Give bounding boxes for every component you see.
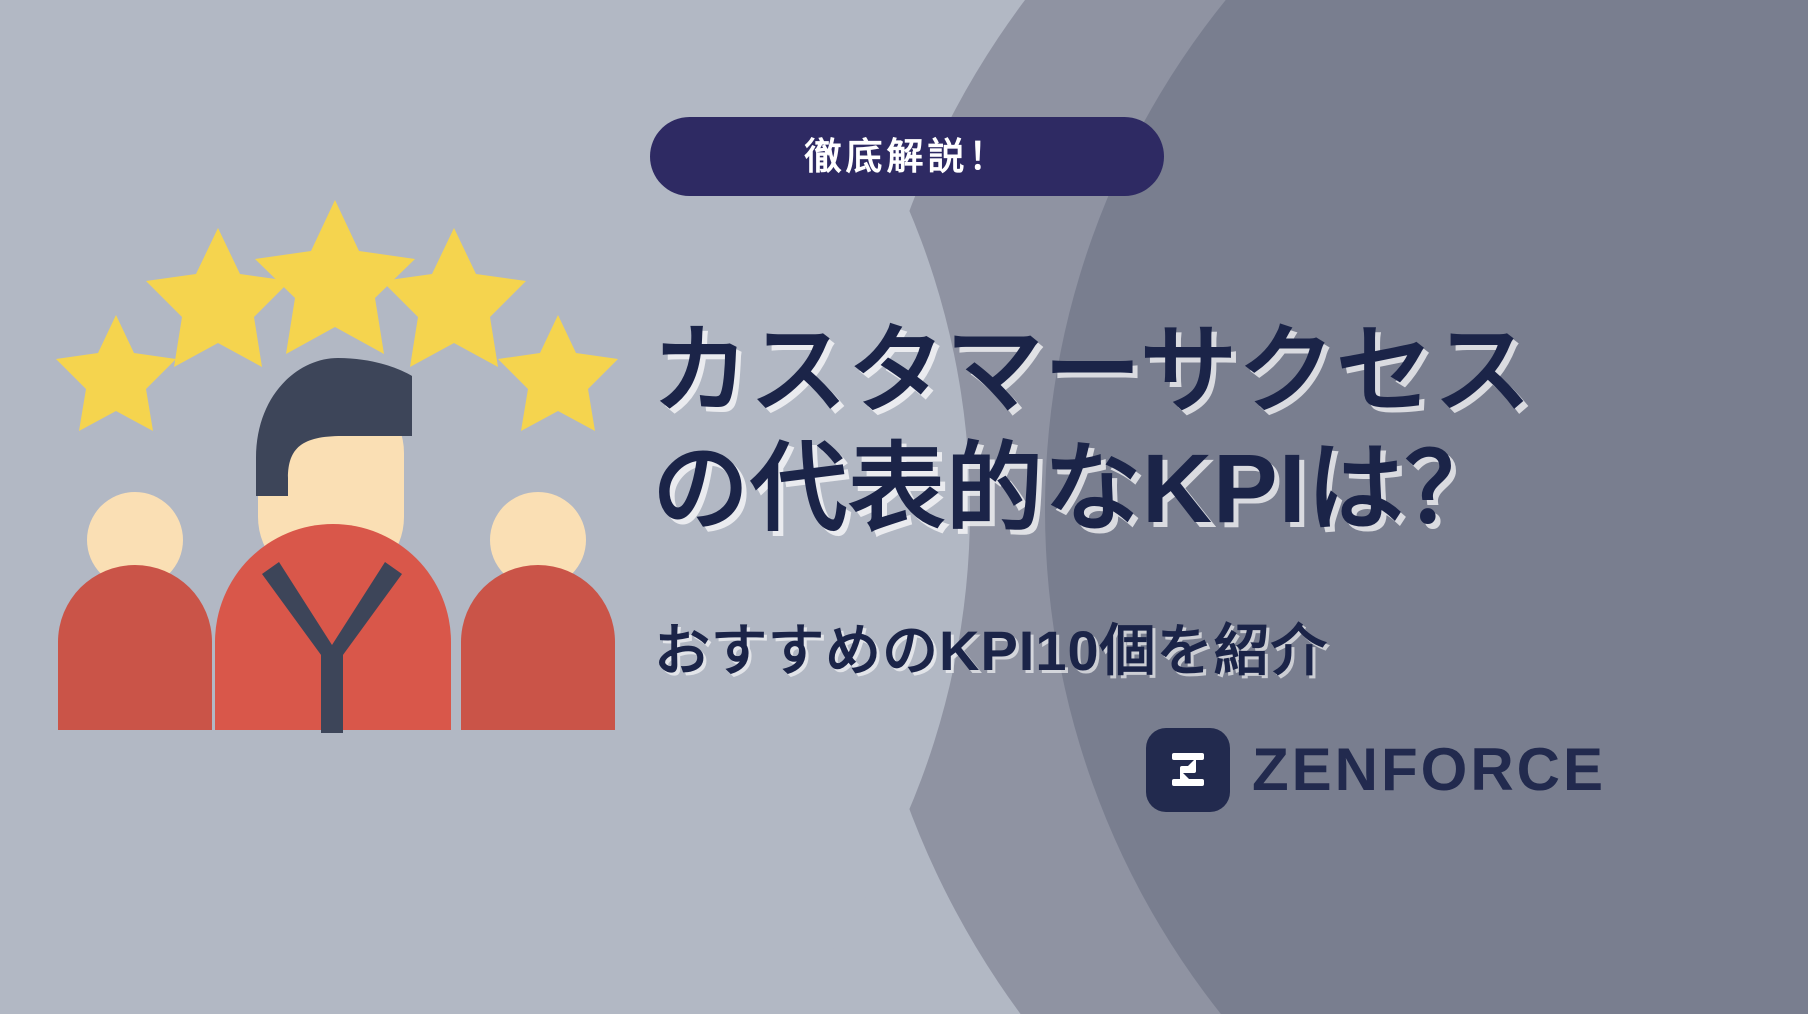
banner-canvas: 徹底解説！ カスタマーサクセス の代表的なKPIは？ おすすめのKPI10個を紹…	[0, 0, 1808, 1014]
person-left-body	[58, 565, 212, 730]
brand-logo: ZENFORCE	[1146, 728, 1606, 812]
brand-wordmark: ZENFORCE	[1252, 740, 1606, 800]
person-center	[215, 358, 451, 733]
star-icon-4	[382, 228, 526, 367]
star-icon-3	[255, 200, 415, 354]
page-title: カスタマーサクセス の代表的なKPIは？	[652, 312, 1772, 548]
zenforce-z-mark-icon	[1146, 728, 1230, 812]
star-icon-5	[498, 315, 618, 431]
headline-line-1: カスタマーサクセス	[652, 312, 1772, 430]
person-center-placket	[321, 655, 343, 733]
star-icon-2	[146, 228, 290, 367]
star-icon-1	[56, 315, 176, 431]
person-right	[461, 492, 615, 730]
person-right-body	[461, 565, 615, 730]
illustration-three-people-with-stars	[50, 190, 630, 740]
page-subtitle: おすすめのKPI10個を紹介	[654, 617, 1328, 684]
headline-line-2: の代表的なKPIは？	[652, 430, 1772, 548]
person-left	[58, 492, 212, 730]
badge-label: 徹底解説！	[805, 138, 1010, 175]
badge-pill: 徹底解説！	[650, 117, 1164, 196]
